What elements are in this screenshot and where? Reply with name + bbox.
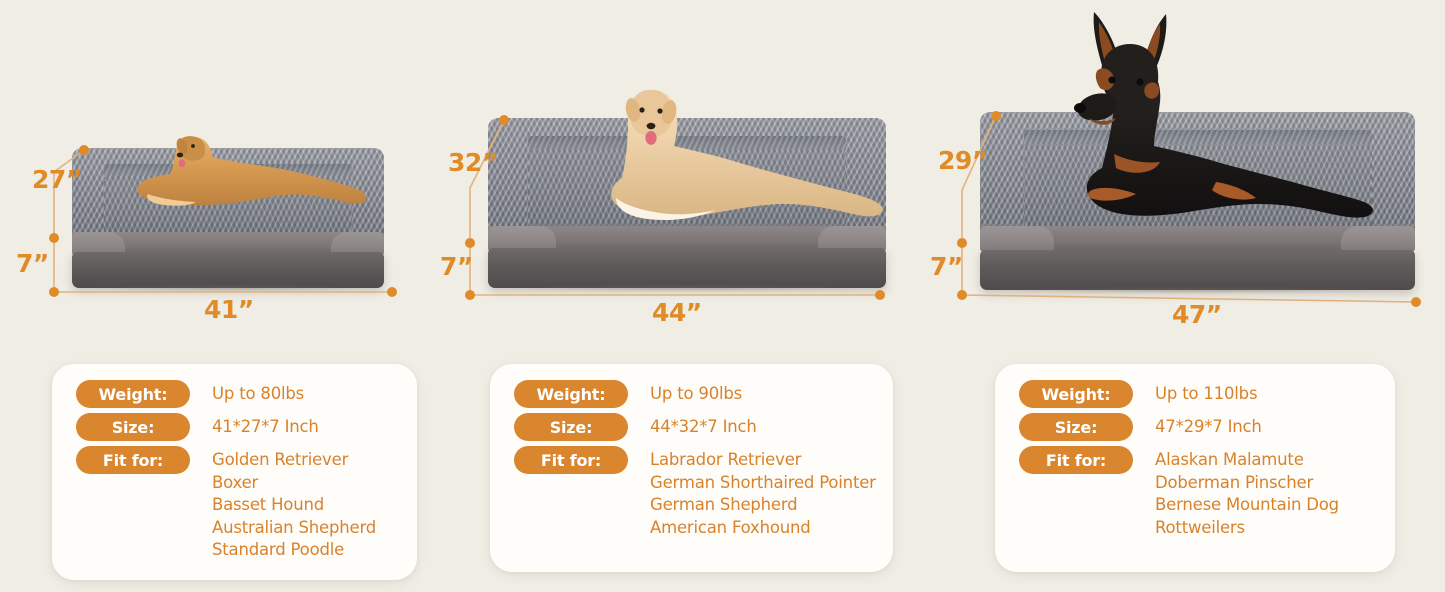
dimension-label-depth: 32”	[448, 148, 498, 177]
breed-list: Alaskan Malamute Doberman Pinscher Berne…	[1133, 446, 1339, 539]
breed-item: Boxer	[212, 472, 376, 495]
breed-item: Alaskan Malamute	[1155, 449, 1339, 472]
breed-item: German Shorthaired Pointer	[650, 472, 876, 495]
bed-base-slab	[980, 250, 1415, 290]
product-column-size-xl: 32” 7” 44”	[440, 0, 920, 350]
breed-item: Labrador Retriever	[650, 449, 876, 472]
breed-item: Golden Retriever	[212, 449, 376, 472]
bed-front-lip	[980, 226, 1415, 252]
spec-row-fit-for: Fit for: Alaskan Malamute Doberman Pinsc…	[1019, 446, 1377, 539]
spec-card-size-xl: Weight: Up to 90lbs Size: 44*32*7 Inch F…	[490, 364, 893, 572]
weight-value: Up to 90lbs	[628, 380, 742, 406]
dog-doberman-pinscher	[1058, 4, 1388, 228]
spec-row-weight: Weight: Up to 80lbs	[76, 380, 399, 408]
dimension-label-height: 7”	[440, 252, 473, 281]
breed-item: Rottweilers	[1155, 517, 1339, 540]
spec-row-size: Size: 41*27*7 Inch	[76, 413, 399, 441]
dimension-label-depth: 29”	[938, 146, 988, 175]
infographic-stage: 27” 7” 41”	[0, 0, 1445, 592]
spec-row-weight: Weight: Up to 110lbs	[1019, 380, 1377, 408]
breed-item: Australian Shepherd	[212, 517, 376, 540]
fit-for-label-pill: Fit for:	[76, 446, 190, 474]
breed-list: Golden Retriever Boxer Basset Hound Aust…	[190, 446, 376, 562]
breed-list: Labrador Retriever German Shorthaired Po…	[628, 446, 876, 539]
spec-card-size-large: Weight: Up to 80lbs Size: 41*27*7 Inch F…	[52, 364, 417, 580]
product-column-size-xxl: 29” 7” 47”	[920, 0, 1445, 350]
fit-for-label-pill: Fit for:	[514, 446, 628, 474]
breed-item: Bernese Mountain Dog	[1155, 494, 1339, 517]
size-value: 41*27*7 Inch	[190, 413, 319, 439]
spec-row-fit-for: Fit for: Golden Retriever Boxer Basset H…	[76, 446, 399, 562]
spec-row-fit-for: Fit for: Labrador Retriever German Short…	[514, 446, 875, 539]
weight-label-pill: Weight:	[76, 380, 190, 408]
dog-golden-retriever-1	[118, 132, 370, 224]
spec-row-weight: Weight: Up to 90lbs	[514, 380, 875, 408]
weight-value: Up to 80lbs	[190, 380, 304, 406]
spec-card-size-xxl: Weight: Up to 110lbs Size: 47*29*7 Inch …	[995, 364, 1395, 572]
size-label-pill: Size:	[76, 413, 190, 441]
size-label-pill: Size:	[514, 413, 628, 441]
breed-item: German Shepherd	[650, 494, 876, 517]
weight-label-pill: Weight:	[514, 380, 628, 408]
breed-item: Standard Poodle	[212, 539, 376, 562]
dog-golden-retriever-2	[576, 82, 888, 230]
product-column-size-large: 27” 7” 41”	[0, 0, 470, 350]
breed-item: Basset Hound	[212, 494, 376, 517]
dimension-label-width: 44”	[652, 298, 702, 327]
size-value: 44*32*7 Inch	[628, 413, 757, 439]
spec-row-size: Size: 44*32*7 Inch	[514, 413, 875, 441]
dimension-label-depth: 27”	[32, 165, 82, 194]
fit-for-label-pill: Fit for:	[1019, 446, 1133, 474]
dimension-label-width: 47”	[1172, 300, 1222, 329]
breed-item: Doberman Pinscher	[1155, 472, 1339, 495]
weight-value: Up to 110lbs	[1133, 380, 1257, 406]
spec-row-size: Size: 47*29*7 Inch	[1019, 413, 1377, 441]
bed-base-slab	[72, 252, 384, 288]
breed-item: American Foxhound	[650, 517, 876, 540]
dimension-label-height: 7”	[930, 252, 963, 281]
dimension-label-height: 7”	[16, 249, 49, 278]
dimension-label-width: 41”	[204, 295, 254, 324]
size-label-pill: Size:	[1019, 413, 1133, 441]
weight-label-pill: Weight:	[1019, 380, 1133, 408]
size-value: 47*29*7 Inch	[1133, 413, 1262, 439]
bed-base-slab	[488, 248, 886, 288]
